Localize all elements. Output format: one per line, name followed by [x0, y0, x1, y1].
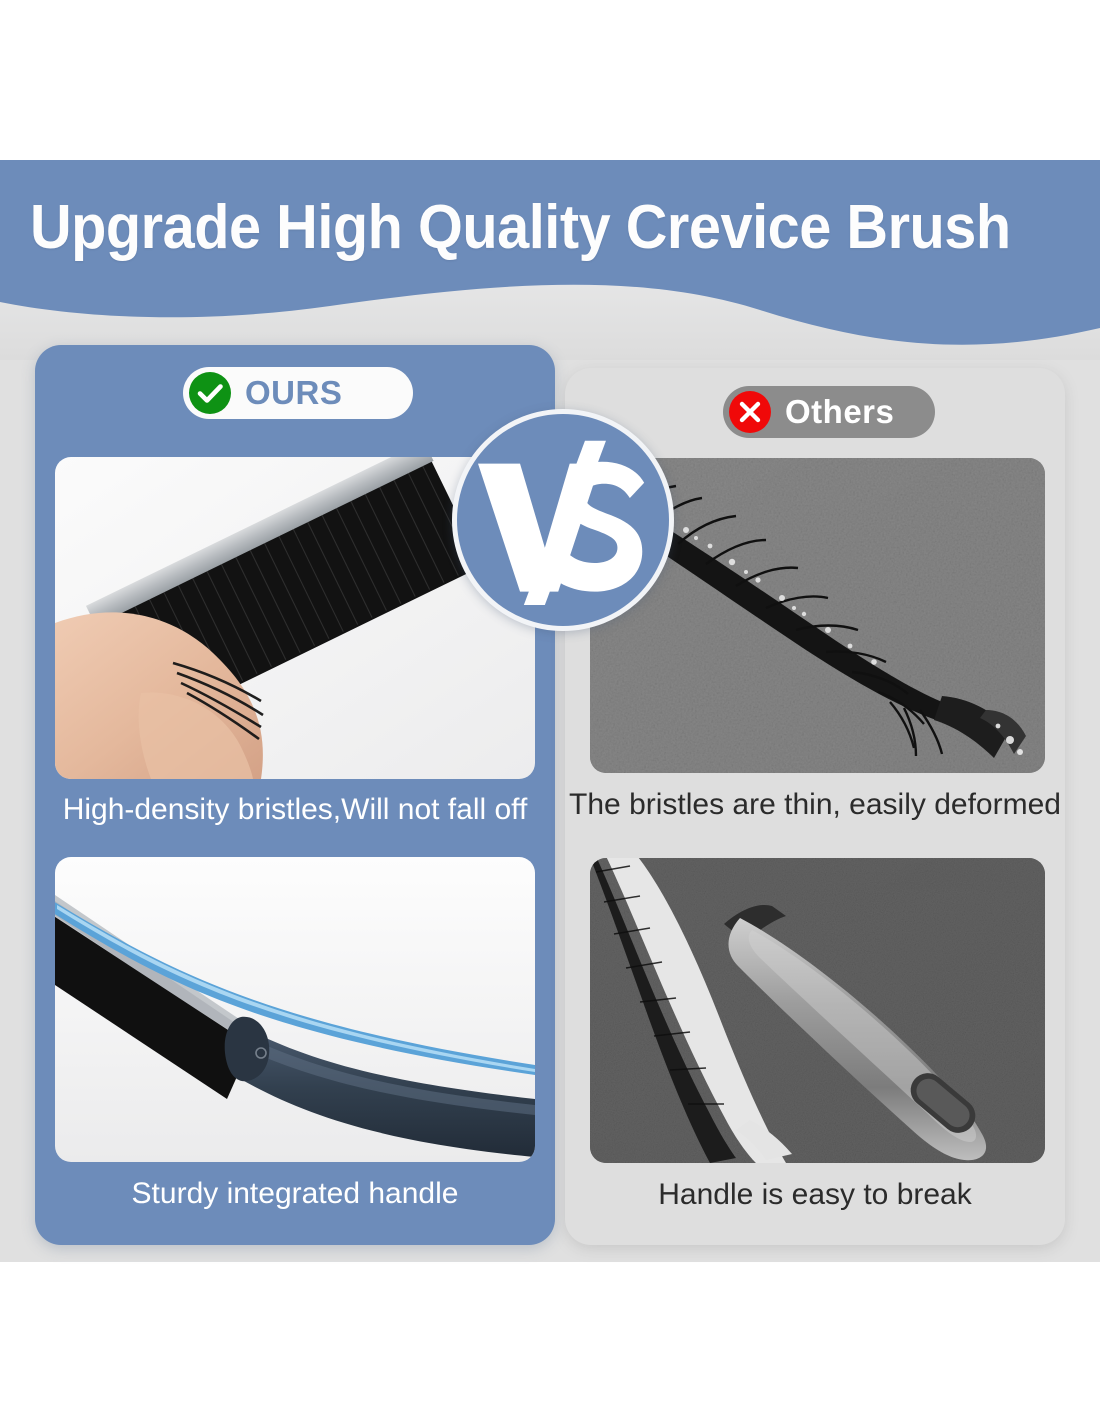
caption-ours-2: Sturdy integrated handle [35, 1177, 555, 1211]
badge-ours: OURS [183, 367, 413, 419]
page-title: Upgrade High Quality Crevice Brush [30, 192, 1007, 264]
badge-others-label: Others [785, 393, 894, 431]
caption-ours-1: High-density bristles,Will not fall off [35, 793, 555, 827]
vs-lettering [457, 414, 669, 626]
header-banner: Upgrade High Quality Crevice Brush [0, 160, 1100, 360]
vs-emblem [452, 409, 674, 631]
cross-circle-icon [729, 391, 771, 433]
caption-others-2: Handle is easy to break [565, 1178, 1065, 1212]
check-circle-icon [189, 372, 231, 414]
badge-others: Others [723, 386, 935, 438]
caption-others-1: The bristles are thin, easily deformed [565, 788, 1065, 822]
badge-ours-label: OURS [245, 374, 342, 412]
photo-ours-handle [55, 857, 535, 1162]
photo-others-broken-handle [590, 858, 1045, 1163]
product-comparison-page: Upgrade High Quality Crevice Brush OURS [0, 0, 1100, 1422]
